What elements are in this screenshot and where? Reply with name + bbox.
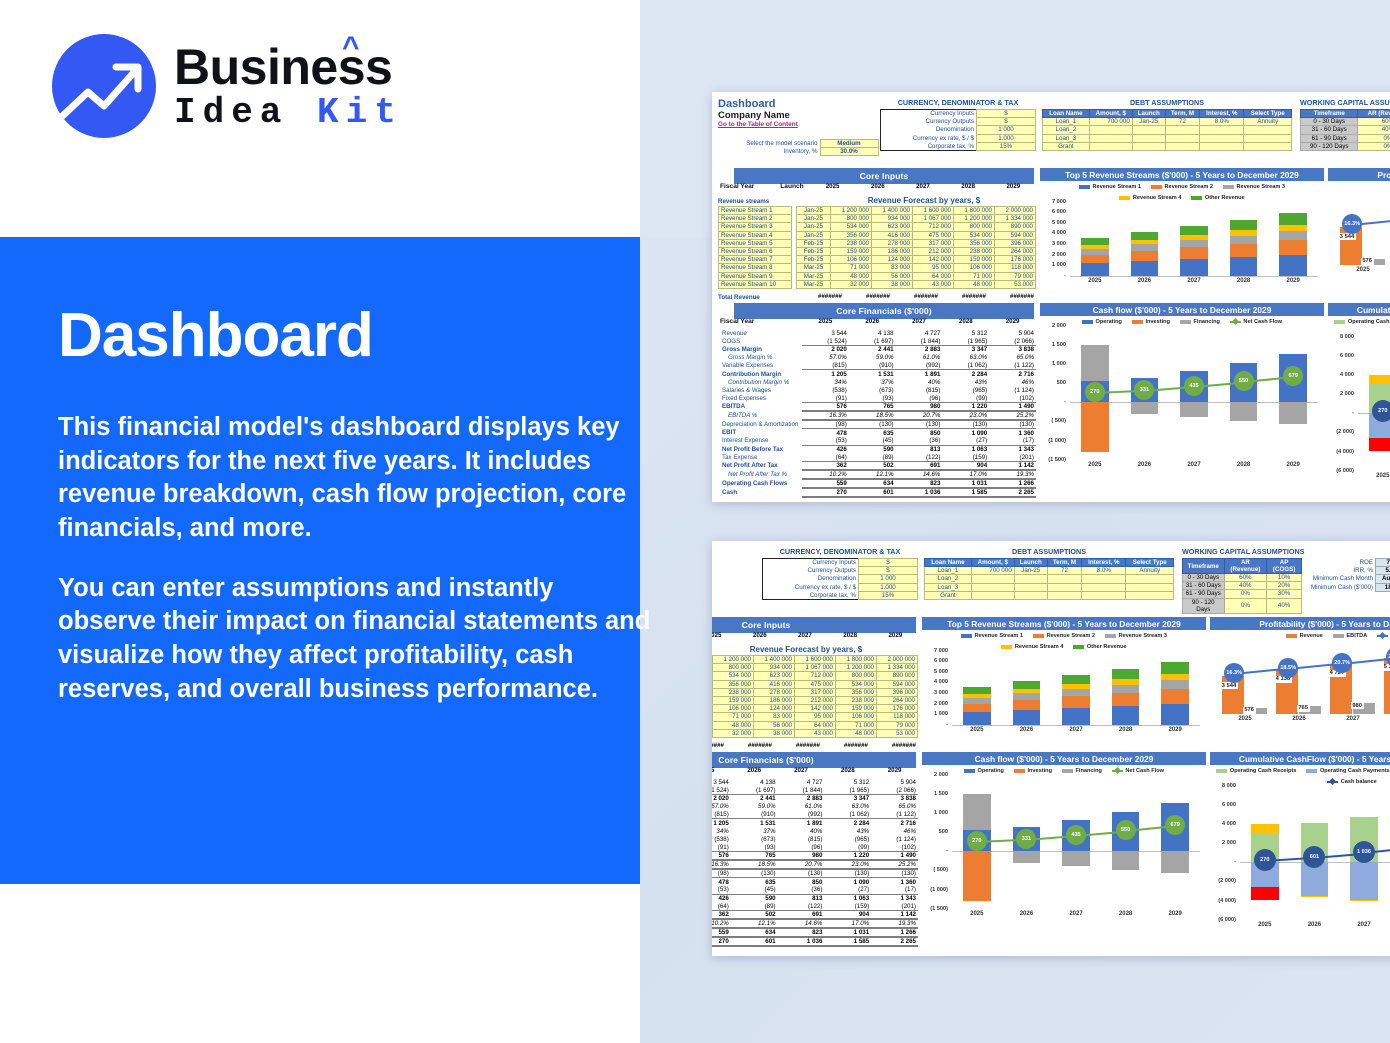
debt-cell[interactable] — [1200, 142, 1244, 150]
revenue-value[interactable]: 186 000 — [872, 247, 913, 255]
fin-value: 2 265 — [989, 488, 1036, 497]
revenue-value[interactable]: 106 000 — [836, 713, 877, 721]
revenue-forecast-title: Revenue Forecast by years, $ — [712, 645, 918, 654]
revenue-stream-name[interactable]: Revenue Stream 6 — [719, 247, 792, 255]
revenue-value[interactable]: 124 000 — [872, 256, 913, 264]
revenue-value[interactable]: 79 000 — [995, 272, 1036, 280]
wc-ap[interactable]: 10% — [1267, 574, 1302, 582]
legend-label: Cash balance — [1341, 779, 1377, 785]
revenue-value[interactable]: 1 200 000 — [831, 207, 872, 215]
chart-plot: 3 54457620254 13876520264 72798020275 31… — [1210, 640, 1390, 726]
inventory-value[interactable]: 30.0% — [820, 148, 878, 156]
table-row: Currency Outputs $ — [881, 118, 1036, 126]
debt-cell[interactable] — [1089, 126, 1132, 134]
launch-cell[interactable]: Jan-25 — [797, 223, 831, 231]
revenue-value[interactable]: 43 000 — [795, 729, 836, 737]
revenue-value[interactable]: 264 000 — [995, 247, 1036, 255]
legend-label: Revenue Stream 1 — [974, 633, 1023, 639]
legend-item: Operating Cash Receipts — [1334, 319, 1390, 325]
revenue-value[interactable]: 186 000 — [754, 696, 795, 704]
y-tick-label: (4 000) — [1328, 449, 1354, 455]
legend-label: Other Revenue — [1205, 195, 1245, 201]
total-revenue-row: ################################### — [712, 741, 918, 749]
debt-cell[interactable]: 700 000 — [971, 567, 1014, 575]
currency-value[interactable]: $ — [977, 110, 1036, 118]
currency-value[interactable]: 1.000 — [859, 583, 918, 591]
revenue-value[interactable]: 416 000 — [754, 680, 795, 688]
launch-cell[interactable]: Mar-25 — [797, 264, 831, 272]
x-tick-label: 2027 — [1176, 462, 1212, 468]
chart-title: Profitability ($'000) - 5 Years to Decem… — [1210, 617, 1390, 630]
revenue-value[interactable]: 212 000 — [795, 696, 836, 704]
bar-segment — [1301, 896, 1329, 897]
revenue-value[interactable]: 712 000 — [795, 672, 836, 680]
scenario-label: Select the model scenario — [734, 140, 820, 148]
revenue-value[interactable]: 356 000 — [954, 239, 995, 247]
revenue-value[interactable]: 317 000 — [913, 239, 954, 247]
fin-value: 850 — [778, 878, 825, 886]
currency-table[interactable]: Currency Inputs $Currency Outputs $Denom… — [762, 558, 918, 600]
debt-cell[interactable]: Annuity — [1126, 567, 1174, 575]
fin-label: Revenue — [718, 329, 802, 337]
debt-cell[interactable]: Grant — [925, 591, 972, 599]
revenue-streams-label: Revenue streams — [718, 198, 769, 205]
revenue-value[interactable]: 1 800 000 — [954, 207, 995, 215]
legend-item: EBITDA — [1333, 633, 1367, 639]
revenue-value[interactable]: 53 000 — [995, 280, 1036, 288]
wc-ar[interactable]: 0% — [1358, 142, 1390, 150]
debt-cell[interactable] — [1165, 134, 1199, 142]
revenue-stream-name[interactable]: Revenue Stream 2 — [719, 215, 792, 223]
table-row: Revenue Stream 5 — [719, 239, 792, 247]
table-row: Mar-2532 00038 00043 00048 00053 000 — [712, 729, 918, 737]
debt-cell[interactable] — [1126, 583, 1174, 591]
revenue-value[interactable]: 56 000 — [754, 721, 795, 729]
revenue-value[interactable]: 1 067 000 — [795, 664, 836, 672]
debt-cell[interactable]: Loan_1 — [1043, 118, 1090, 126]
table-row: EBIT4786358501 0901 360 — [718, 429, 1036, 437]
revenue-value[interactable]: 142 000 — [913, 256, 954, 264]
revenue-value[interactable]: 212 000 — [913, 247, 954, 255]
table-row: 31 - 60 Days 40% 20% — [1301, 126, 1390, 134]
wc-ar[interactable]: 0% — [1224, 598, 1267, 613]
legend-label: Revenue Stream 3 — [1119, 633, 1168, 639]
revenue-stream-name[interactable]: Revenue Stream 1 — [719, 207, 792, 215]
debt-cell[interactable] — [971, 583, 1014, 591]
revenue-value[interactable]: 106 000 — [954, 264, 995, 272]
debt-cell[interactable] — [1082, 591, 1126, 599]
fin-value: (538) — [802, 386, 849, 394]
revenue-value[interactable]: 356 000 — [713, 680, 754, 688]
revenue-value[interactable]: 594 000 — [995, 231, 1036, 239]
revenue-value[interactable]: 32 000 — [713, 729, 754, 737]
fin-value: 65.0% — [871, 803, 918, 811]
debt-cell[interactable]: 72 — [1047, 567, 1081, 575]
revenue-value[interactable]: 317 000 — [795, 688, 836, 696]
revenue-value[interactable]: 48 000 — [836, 729, 877, 737]
revenue-value[interactable]: 1 200 000 — [836, 664, 877, 672]
debt-cell[interactable] — [1082, 583, 1126, 591]
debt-cell[interactable]: Loan_1 — [925, 567, 972, 575]
working-capital-table[interactable]: TimeframeAR (Revenue)AP (COGS) 0 - 30 Da… — [1300, 109, 1390, 151]
launch-cell[interactable]: Mar-25 — [797, 272, 831, 280]
debt-cell[interactable] — [1014, 575, 1047, 583]
revenue-value[interactable]: 95 000 — [795, 713, 836, 721]
legend-item: Revenue Stream 1 — [961, 633, 1023, 639]
debt-cell[interactable] — [1014, 591, 1047, 599]
wc-timeframe: 0 - 30 Days — [1301, 118, 1358, 126]
fin-value: 12.1% — [849, 470, 896, 479]
revenue-stream-name[interactable]: Revenue Stream 4 — [719, 231, 792, 239]
currency-value[interactable]: 1 000 — [859, 575, 918, 583]
revenue-value[interactable]: 264 000 — [877, 696, 918, 704]
revenue-value[interactable]: 159 000 — [954, 256, 995, 264]
revenue-stream-name[interactable]: Revenue Stream 10 — [719, 280, 792, 288]
chart-top5-revenue-bottom[interactable]: Top 5 Revenue Streams ($'000) - 5 Years … — [922, 617, 1206, 747]
fin-value: 1 090 — [824, 878, 871, 886]
debt-cell[interactable] — [1165, 126, 1199, 134]
wc-ar[interactable]: 0% — [1224, 590, 1267, 598]
revenue-value[interactable]: 159 000 — [836, 705, 877, 713]
fin-value: 590 — [849, 445, 896, 453]
revenue-value[interactable]: 38 000 — [872, 280, 913, 288]
wc-ar[interactable]: 60% — [1224, 574, 1267, 582]
debt-cell[interactable] — [1132, 126, 1165, 134]
table-row: Revenue Stream 6 — [719, 247, 792, 255]
fin-label: Interest Expense — [718, 437, 802, 445]
revenue-value[interactable]: 1 400 000 — [872, 207, 913, 215]
data-point-bubble: 270 — [967, 831, 987, 851]
chart-top5-revenue-top[interactable]: Top 5 Revenue Streams ($'000) - 5 Years … — [1040, 168, 1324, 298]
table-row: Revenue Stream 2 — [719, 215, 792, 223]
currency-value[interactable]: 1.000 — [977, 134, 1036, 142]
legend-label: Investing — [1027, 768, 1052, 774]
revenue-value[interactable]: 83 000 — [754, 713, 795, 721]
revenue-value[interactable]: 1 334 000 — [877, 664, 918, 672]
currency-value[interactable]: 15% — [977, 142, 1036, 150]
cell: ####### — [892, 292, 940, 300]
debt-table[interactable]: Loan NameAmount, $LaunchTerm, MInterest,… — [924, 558, 1174, 600]
revenue-value[interactable]: 356 000 — [836, 688, 877, 696]
fin-value: 23.0% — [824, 860, 871, 869]
legend-item: Other Revenue — [1191, 195, 1244, 201]
debt-cell[interactable] — [1082, 575, 1126, 583]
revenue-value[interactable]: 124 000 — [754, 705, 795, 713]
revenue-value[interactable]: 934 000 — [872, 215, 913, 223]
fin-value: 5 312 — [824, 778, 871, 786]
fin-value: 1 343 — [989, 445, 1036, 453]
launch-cell[interactable]: Jan-25 — [797, 215, 831, 223]
revenue-value[interactable]: 48 000 — [831, 272, 872, 280]
bar-segment — [1279, 402, 1307, 424]
x-tick-label: 2025 — [1345, 267, 1381, 273]
revenue-value[interactable]: 238 000 — [836, 696, 877, 704]
revenue-value[interactable]: 534 000 — [831, 223, 872, 231]
debt-cell[interactable] — [971, 591, 1014, 599]
fin-value: 57.0% — [802, 354, 849, 362]
fin-value: 46% — [989, 378, 1036, 386]
debt-cell[interactable] — [1244, 142, 1292, 150]
bar-segment — [1081, 263, 1109, 276]
launch-cell[interactable]: Mar-25 — [797, 280, 831, 288]
revenue-value[interactable]: 623 000 — [872, 223, 913, 231]
revenue-value[interactable]: 71 000 — [836, 721, 877, 729]
fin-value: 559 — [712, 928, 731, 937]
fin-value: 2 716 — [989, 370, 1036, 378]
debt-cell[interactable]: Grant — [1043, 142, 1090, 150]
revenue-value[interactable]: 159 000 — [713, 696, 754, 704]
zero-axis — [952, 725, 1200, 726]
launch-cell[interactable]: Feb-25 — [797, 239, 831, 247]
debt-cell[interactable] — [1047, 575, 1081, 583]
debt-cell[interactable] — [1165, 142, 1199, 150]
scenario-inputs[interactable]: Select the model scenario Medium Invento… — [734, 139, 879, 156]
table-row: Cash2706011 0361 5852 265 — [718, 488, 1036, 497]
debt-cell[interactable]: 700 000 — [1089, 118, 1132, 126]
chart-profitability-bottom[interactable]: Profitability ($'000) - 5 Years to Decem… — [1210, 617, 1390, 747]
revenue-stream-names[interactable]: Revenue Stream 1Revenue Stream 2Revenue … — [718, 206, 792, 289]
revenue-value[interactable]: 1 067 000 — [913, 215, 954, 223]
revenue-value[interactable]: 53 000 — [877, 729, 918, 737]
core-inputs-year-header: Fiscal Year Launch 20252026202720282029 — [718, 182, 1036, 190]
table-row: Currency Outputs $ — [763, 567, 918, 575]
table-row: Loan_3 — [925, 583, 1174, 591]
wc-ap[interactable]: 30% — [1267, 590, 1302, 598]
revenue-value[interactable]: 238 000 — [713, 688, 754, 696]
currency-label: Currency ex rate, $ / $ — [881, 134, 977, 142]
debt-cell[interactable]: Loan_3 — [1043, 134, 1090, 142]
wc-ap[interactable]: 40% — [1267, 598, 1302, 613]
cell: 2028 — [946, 182, 991, 190]
revenue-value[interactable]: 48 000 — [713, 721, 754, 729]
revenue-value[interactable]: 118 000 — [877, 713, 918, 721]
debt-cell[interactable]: Jan-25 — [1132, 118, 1165, 126]
revenue-value[interactable]: 79 000 — [877, 721, 918, 729]
revenue-stream-name[interactable]: Revenue Stream 3 — [719, 223, 792, 231]
revenue-value[interactable]: 159 000 — [831, 247, 872, 255]
revenue-value[interactable]: 890 000 — [877, 672, 918, 680]
revenue-value[interactable]: 176 000 — [877, 705, 918, 713]
chart-cumulative-bottom[interactable]: Cumulative CashFlow ($'000) - 5 Years to… — [1210, 752, 1390, 940]
legend-swatch — [1062, 769, 1073, 773]
debt-cell[interactable]: Annuity — [1244, 118, 1292, 126]
currency-value[interactable]: $ — [977, 118, 1036, 126]
chart-cashflow-bottom[interactable]: Cash flow ($'000) - 5 Years to December … — [922, 752, 1206, 940]
fin-value: (201) — [989, 453, 1036, 461]
fin-value: (815) — [802, 362, 849, 370]
revenue-value[interactable]: 623 000 — [754, 672, 795, 680]
revenue-value[interactable]: 238 000 — [954, 247, 995, 255]
revenue-forecast-table[interactable]: Jan-251 200 0001 400 0001 600 0001 800 0… — [712, 655, 918, 738]
revenue-value[interactable]: 278 000 — [754, 688, 795, 696]
fin-value: 2 265 — [871, 937, 918, 946]
revenue-value[interactable]: 1 400 000 — [754, 656, 795, 664]
revenue-value[interactable]: 71 000 — [954, 272, 995, 280]
wc-ar[interactable]: 40% — [1358, 126, 1390, 134]
fin-value: (992) — [778, 811, 825, 819]
wc-ar[interactable]: 60% — [1358, 118, 1390, 126]
currency-table[interactable]: Currency Inputs $Currency Outputs $Denom… — [880, 109, 1036, 151]
logo-text-business: Business ^ — [174, 42, 403, 92]
x-tick-label: 2028 — [1226, 278, 1262, 284]
wc-ap[interactable]: 20% — [1267, 582, 1302, 590]
revenue-forecast-table[interactable]: Jan-251 200 0001 400 0001 600 0001 800 0… — [796, 206, 1036, 289]
currency-value[interactable]: 1 000 — [977, 126, 1036, 134]
revenue-value[interactable]: 1 600 000 — [795, 656, 836, 664]
fin-value: 1 266 — [871, 928, 918, 937]
revenue-value[interactable]: 416 000 — [872, 231, 913, 239]
fin-value: 5 904 — [989, 329, 1036, 337]
revenue-value[interactable]: 48 000 — [954, 280, 995, 288]
debt-cell[interactable] — [1132, 142, 1165, 150]
currency-value[interactable]: $ — [859, 559, 918, 567]
revenue-value[interactable]: 56 000 — [872, 272, 913, 280]
dashboard-sheet-bottom[interactable]: CURRENCY, DENOMINATOR & TAX Currency Inp… — [712, 541, 1390, 956]
revenue-value[interactable]: 2 000 000 — [995, 207, 1036, 215]
revenue-value[interactable]: 800 000 — [836, 672, 877, 680]
debt-cell[interactable] — [1244, 126, 1292, 134]
revenue-value[interactable]: 278 000 — [872, 239, 913, 247]
debt-cell[interactable]: Loan_2 — [925, 575, 972, 583]
revenue-value[interactable]: 534 000 — [954, 231, 995, 239]
working-capital-table[interactable]: TimeframeAR (Revenue)AP (COGS) 0 - 30 Da… — [1182, 558, 1302, 614]
revenue-value[interactable]: 83 000 — [872, 264, 913, 272]
bar-segment — [1279, 240, 1307, 254]
debt-cell[interactable]: 72 — [1165, 118, 1199, 126]
revenue-value[interactable]: 106 000 — [713, 705, 754, 713]
revenue-value[interactable]: 534 000 — [713, 672, 754, 680]
table-row: 90 - 120 Days 0% 40% — [1183, 598, 1302, 613]
launch-cell[interactable]: Feb-25 — [797, 247, 831, 255]
table-row: Revenue Stream 1 — [719, 207, 792, 215]
debt-cell[interactable]: 8.0% — [1082, 567, 1126, 575]
revenue-value[interactable]: 1 600 000 — [913, 207, 954, 215]
fin-value: (36) — [778, 886, 825, 894]
legend-item: Financing — [1062, 768, 1102, 774]
currency-value[interactable]: $ — [859, 567, 918, 575]
revenue-value[interactable]: 142 000 — [795, 705, 836, 713]
fin-value: (130) — [731, 869, 778, 878]
fin-value: 1 220 — [824, 852, 871, 861]
fin-value: (1 124) — [871, 835, 918, 843]
revenue-value[interactable]: 594 000 — [877, 680, 918, 688]
revenue-value[interactable]: 800 000 — [713, 664, 754, 672]
debt-cell[interactable] — [1014, 583, 1047, 591]
fin-value: 813 — [896, 445, 943, 453]
wc-ar[interactable]: 0% — [1358, 134, 1390, 142]
revenue-value[interactable]: 475 000 — [795, 680, 836, 688]
revenue-value[interactable]: 934 000 — [754, 664, 795, 672]
revenue-value[interactable]: 396 000 — [877, 688, 918, 696]
chart-profitability-top[interactable]: Profitability ($'000) - 5 Years to Decem… — [1328, 168, 1390, 298]
debt-cell[interactable]: 8.0% — [1200, 118, 1244, 126]
y-tick-label: (1 500) — [922, 906, 948, 912]
debt-cell[interactable]: Jan-25 — [1014, 567, 1047, 575]
revenue-value[interactable]: 106 000 — [831, 256, 872, 264]
revenue-stream-name[interactable]: Revenue Stream 9 — [719, 272, 792, 280]
revenue-value[interactable]: 38 000 — [754, 729, 795, 737]
debt-cell[interactable] — [1047, 591, 1081, 599]
kpi-value: Aug-25 — [1376, 575, 1390, 583]
chart-cashflow-top[interactable]: Cash flow ($'000) - 5 Years to December … — [1040, 303, 1324, 491]
revenue-value[interactable]: 95 000 — [913, 264, 954, 272]
revenue-value[interactable]: 890 000 — [995, 223, 1036, 231]
revenue-value[interactable]: 238 000 — [831, 239, 872, 247]
fin-label: Gross Margin % — [718, 354, 802, 362]
legend-swatch — [1001, 645, 1012, 649]
debt-cell[interactable] — [1132, 134, 1165, 142]
debt-cell[interactable] — [1089, 134, 1132, 142]
revenue-value[interactable]: 71 000 — [713, 713, 754, 721]
revenue-value[interactable]: 64 000 — [913, 272, 954, 280]
revenue-value[interactable]: 32 000 — [831, 280, 872, 288]
wc-ar[interactable]: 40% — [1224, 582, 1267, 590]
revenue-value[interactable]: 712 000 — [913, 223, 954, 231]
debt-cell[interactable] — [1047, 583, 1081, 591]
scenario-value[interactable]: Medium — [820, 140, 878, 148]
revenue-value[interactable]: 43 000 — [913, 280, 954, 288]
revenue-value[interactable]: 356 000 — [831, 231, 872, 239]
revenue-value[interactable]: 534 000 — [836, 680, 877, 688]
revenue-value[interactable]: 1 200 000 — [954, 215, 995, 223]
debt-cell[interactable] — [1089, 142, 1132, 150]
debt-cell[interactable] — [1126, 575, 1174, 583]
y-tick-label: 5 000 — [1040, 220, 1066, 226]
x-tick-label: 2025 — [1227, 716, 1263, 722]
revenue-stream-name[interactable]: Revenue Stream 7 — [719, 256, 792, 264]
debt-cell[interactable]: Loan_2 — [1043, 126, 1090, 134]
revenue-value[interactable]: 2 000 000 — [877, 656, 918, 664]
revenue-value[interactable]: 71 000 — [831, 264, 872, 272]
y-tick-label: 4 000 — [922, 679, 948, 685]
launch-cell[interactable]: Feb-25 — [797, 256, 831, 264]
debt-cell[interactable] — [1200, 134, 1244, 142]
revenue-value[interactable]: 475 000 — [913, 231, 954, 239]
revenue-value[interactable]: 118 000 — [995, 264, 1036, 272]
y-tick-label: 3 000 — [1040, 241, 1066, 247]
dashboard-sheet-top[interactable]: Dashboard Company Name Go to the Table o… — [712, 92, 1390, 502]
chart-cumulative-top[interactable]: Cumulative CashFlow ($'000) - 5 Years to… — [1328, 303, 1390, 491]
debt-cell[interactable] — [1244, 134, 1292, 142]
revenue-stream-name[interactable]: Revenue Stream 5 — [719, 239, 792, 247]
revenue-value[interactable]: 64 000 — [795, 721, 836, 729]
cf-years: 20252026202720282029 — [802, 317, 1036, 325]
currency-value[interactable]: 15% — [859, 591, 918, 599]
x-tick-label: 2025 — [959, 727, 995, 733]
revenue-stream-name[interactable]: Revenue Stream 8 — [719, 264, 792, 272]
debt-cell[interactable] — [971, 575, 1014, 583]
debt-table[interactable]: Loan NameAmount, $LaunchTerm, MInterest,… — [1042, 109, 1292, 151]
revenue-value[interactable]: 176 000 — [995, 256, 1036, 264]
launch-cell[interactable]: Jan-25 — [797, 231, 831, 239]
x-tick-label: 2027 — [1176, 278, 1212, 284]
revenue-value[interactable]: 800 000 — [831, 215, 872, 223]
revenue-value[interactable]: 1 800 000 — [836, 656, 877, 664]
revenue-value[interactable]: 1 200 000 — [713, 656, 754, 664]
debt-cell[interactable] — [1126, 591, 1174, 599]
chart-plot: 2 0001 5001 000500-( 500)(1 000)(1 500)2… — [922, 775, 1206, 921]
debt-cell[interactable] — [1200, 126, 1244, 134]
legend-label: Revenue Stream 2 — [1046, 633, 1095, 639]
launch-cell[interactable]: Jan-25 — [797, 207, 831, 215]
revenue-value[interactable]: 1 334 000 — [995, 215, 1036, 223]
revenue-value[interactable]: 396 000 — [995, 239, 1036, 247]
debt-cell[interactable]: Loan_3 — [925, 583, 972, 591]
x-tick-label: 2025 — [1077, 462, 1113, 468]
kpi-value: 187.2 — [1376, 583, 1390, 591]
fin-value: 5 312 — [942, 329, 989, 337]
revenue-value[interactable]: 800 000 — [954, 223, 995, 231]
